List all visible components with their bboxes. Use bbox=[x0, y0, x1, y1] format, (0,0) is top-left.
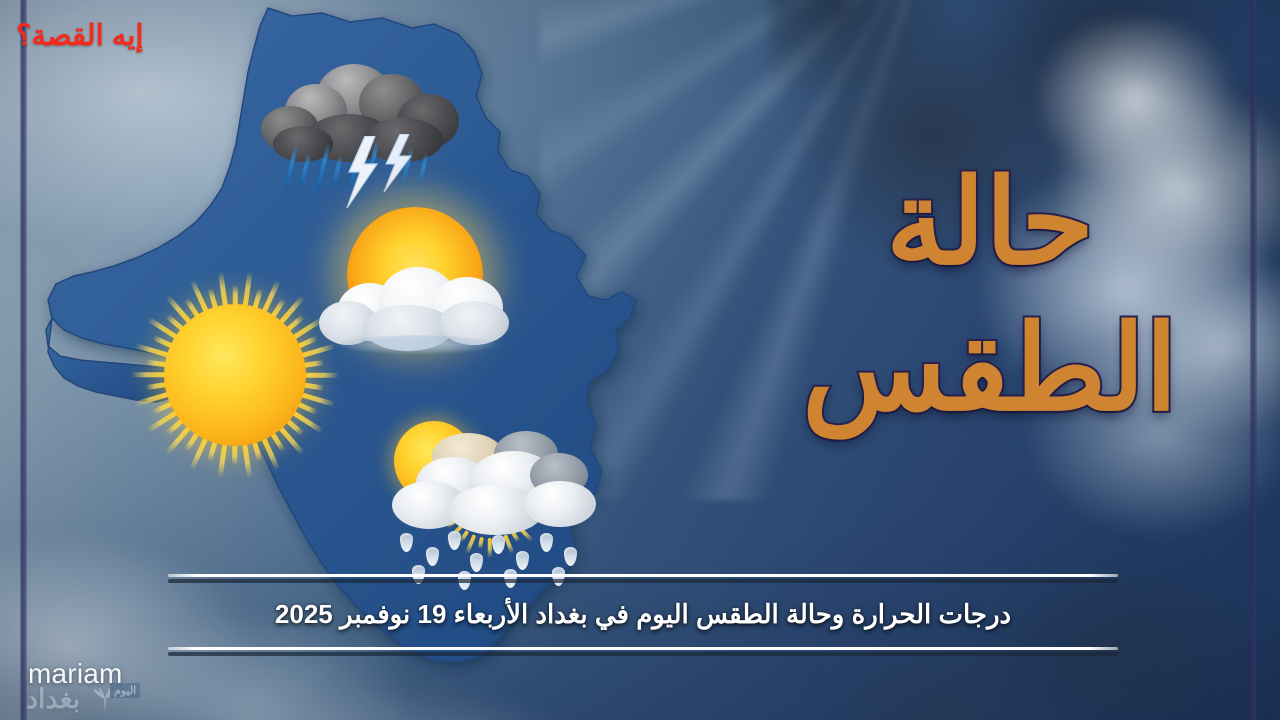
sun-ray bbox=[218, 272, 227, 306]
sun-ray bbox=[298, 402, 318, 414]
sun-ray bbox=[478, 536, 484, 548]
title-line-2: الطقس bbox=[760, 296, 1220, 442]
sun-disc bbox=[164, 304, 306, 446]
frame-stripe-right bbox=[1250, 0, 1257, 720]
caption-text: درجات الحرارة وحالة الطقس اليوم في بغداد… bbox=[168, 583, 1118, 647]
caption-rule-top bbox=[168, 574, 1118, 583]
sun-icon bbox=[130, 270, 340, 480]
sun-ray bbox=[243, 444, 252, 478]
sun-ray bbox=[146, 383, 166, 390]
thunderstorm-icon bbox=[255, 62, 470, 207]
sun-ray bbox=[460, 530, 469, 542]
sun-ray bbox=[208, 442, 218, 462]
sun-ray bbox=[271, 433, 285, 452]
lightning-bolt-icon bbox=[343, 136, 383, 208]
caption-rule-bottom bbox=[168, 647, 1118, 656]
sun-ray bbox=[233, 445, 238, 465]
sun-ray bbox=[146, 360, 166, 367]
sun-cloud-rain-icon bbox=[370, 405, 610, 590]
site-watermark-badge: اليوم bbox=[110, 683, 140, 698]
title-line-1: حالة bbox=[760, 150, 1220, 296]
brand-logo[interactable]: إيه القصة؟ bbox=[16, 22, 143, 51]
sun-ray bbox=[253, 288, 263, 308]
frame-stripe-left bbox=[20, 0, 27, 720]
weather-poster: إيه القصة؟ حالة الطقس درجات الحرارة وحال… bbox=[0, 0, 1280, 720]
sun-ray bbox=[465, 534, 476, 554]
site-watermark-text: بغداد bbox=[26, 686, 80, 713]
site-watermark: بغداد اليوم bbox=[26, 686, 120, 713]
cloud-base-shadow bbox=[335, 335, 501, 357]
page-title: حالة الطقس bbox=[760, 150, 1220, 443]
sun-ray bbox=[243, 272, 252, 306]
sun-ray bbox=[218, 444, 227, 478]
sun-ray bbox=[233, 285, 238, 305]
sun-ray bbox=[135, 344, 169, 358]
caption-block: درجات الحرارة وحالة الطقس اليوم في بغداد… bbox=[168, 574, 1118, 656]
sun-ray bbox=[131, 373, 165, 378]
sun-behind-cloud-icon bbox=[315, 205, 535, 395]
sun-ray bbox=[253, 442, 263, 462]
lightning-bolt-icon bbox=[381, 134, 415, 192]
